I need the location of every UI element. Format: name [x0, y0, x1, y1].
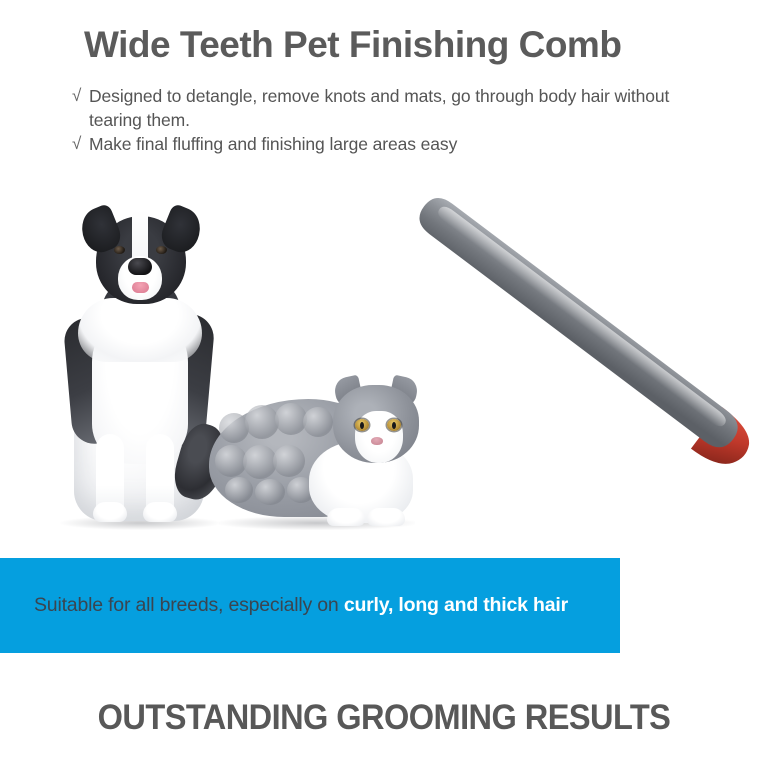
- product-photo-stage: [0, 180, 768, 555]
- footer-heading: OUTSTANDING GROOMING RESULTS: [27, 698, 741, 738]
- page-title: Wide Teeth Pet Finishing Comb: [84, 26, 704, 65]
- dog-paw-right: [143, 502, 177, 522]
- cat-fur-curl: [303, 407, 333, 437]
- dog-eye-right: [156, 246, 167, 254]
- dog-photo: [52, 202, 227, 532]
- product-infographic: Wide Teeth Pet Finishing Comb √ Designed…: [0, 0, 768, 768]
- dog-paw-left: [93, 502, 127, 522]
- list-item: √ Designed to detangle, remove knots and…: [72, 84, 712, 132]
- grooming-comb-image: [360, 180, 768, 510]
- dog-ruff: [78, 298, 202, 362]
- comb-handle-highlight: [435, 204, 729, 430]
- feature-bullet-list: √ Designed to detangle, remove knots and…: [72, 84, 712, 156]
- check-mark-icon: √: [72, 132, 89, 155]
- cat-paw-rear: [367, 508, 405, 526]
- check-mark-icon: √: [72, 84, 89, 107]
- cat-fur-curl: [273, 445, 305, 477]
- highlight-banner: Suitable for all breeds, especially on c…: [0, 558, 620, 653]
- bullet-text: Make final fluffing and finishing large …: [89, 132, 712, 156]
- banner-text: Suitable for all breeds, especially on c…: [34, 594, 568, 617]
- dog-nose: [128, 258, 152, 275]
- bullet-text: Designed to detangle, remove knots and m…: [89, 84, 712, 132]
- dog-tongue: [132, 282, 149, 293]
- cat-paw-front: [327, 508, 365, 526]
- dog-eye-left: [114, 246, 125, 254]
- list-item: √ Make final fluffing and finishing larg…: [72, 132, 712, 156]
- cat-fur-curl: [255, 479, 285, 505]
- cat-fur-curl: [245, 405, 279, 439]
- cat-fur-curl: [225, 477, 253, 503]
- cat-fur-curl: [243, 445, 277, 479]
- banner-lead-text: Suitable for all breeds, especially on: [34, 594, 344, 616]
- banner-emphasis-text: curly, long and thick hair: [344, 594, 568, 616]
